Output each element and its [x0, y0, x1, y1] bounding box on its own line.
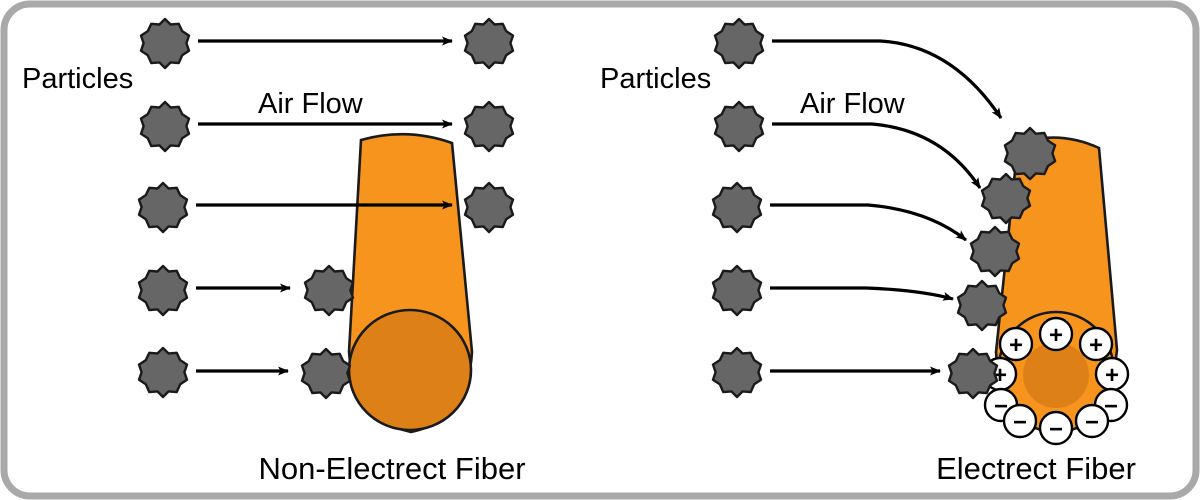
charge-symbol-negative: −: [1085, 409, 1099, 436]
downstream-particles-left: [465, 19, 513, 232]
charge-negative: −: [1076, 405, 1108, 437]
airflow-label-right: Air Flow: [800, 88, 906, 120]
caption-non-electret: Non-Electrect Fiber: [258, 451, 525, 486]
particles-label-left: Particles: [22, 63, 133, 95]
airflow-label-left: Air Flow: [258, 88, 364, 120]
fiber-non-electret: [349, 134, 472, 432]
charge-symbol-negative: −: [1049, 416, 1063, 443]
charge-symbol-positive: +: [1089, 332, 1103, 359]
charge-symbol-positive: +: [1105, 362, 1119, 389]
charge-positive: +: [1000, 328, 1032, 360]
particles-label-right: Particles: [600, 63, 711, 95]
charge-negative: −: [1004, 405, 1036, 437]
caption-electret: Electrect Fiber: [936, 451, 1136, 486]
charge-positive: +: [1096, 358, 1128, 390]
charge-symbol-positive: +: [1049, 322, 1063, 349]
charge-positive: +: [1040, 318, 1072, 350]
fiber-core: [1023, 342, 1089, 408]
charge-symbol-negative: −: [1013, 409, 1027, 436]
diagram-canvas: Particles Air Flow Non-Electrect Fiber +: [0, 0, 1200, 500]
charge-symbol-positive: +: [1009, 332, 1023, 359]
fiber-end-cap: [349, 310, 471, 430]
particle-capture-diagram: Particles Air Flow Non-Electrect Fiber +: [0, 0, 1200, 500]
charge-positive: +: [1080, 328, 1112, 360]
charge-negative: −: [1040, 412, 1072, 444]
